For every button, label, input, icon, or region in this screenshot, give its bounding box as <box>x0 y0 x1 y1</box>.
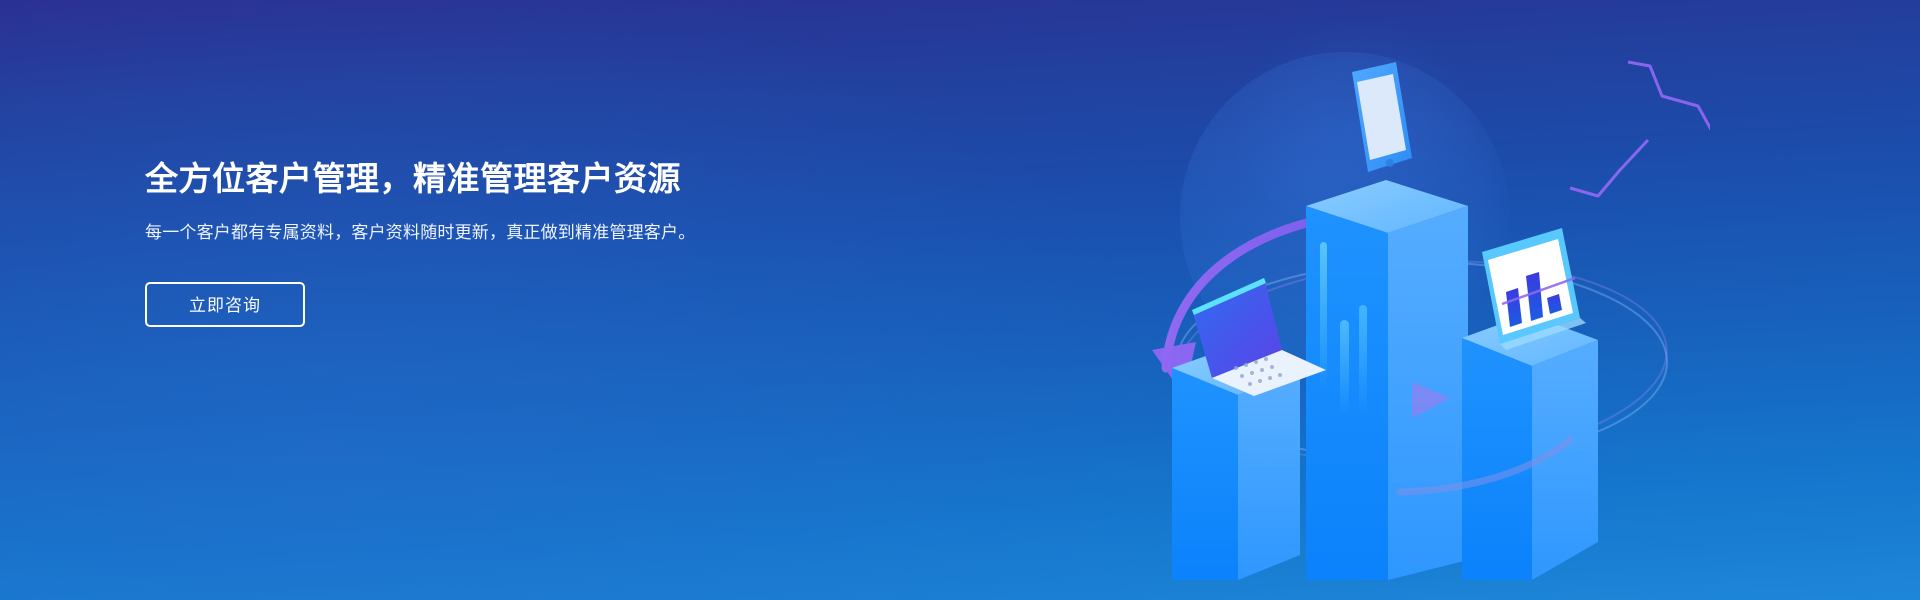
hero-banner: 全方位客户管理，精准管理客户资源 每一个客户都有专属资料，客户资料随时更新，真正… <box>0 0 1920 600</box>
tablet-icon <box>1352 62 1412 172</box>
pedestal-right <box>1462 314 1598 580</box>
hero-copy: 全方位客户管理，精准管理客户资源 每一个客户都有专属资料，客户资料随时更新，真正… <box>145 158 805 327</box>
hero-subtitle: 每一个客户都有专属资料，客户资料随时更新，真正做到精准管理客户。 <box>145 220 740 247</box>
pedestal-center <box>1306 172 1480 580</box>
consult-now-button[interactable]: 立即咨询 <box>145 282 305 327</box>
hero-illustration <box>1150 20 1710 580</box>
trend-line-icon <box>1570 62 1710 196</box>
page-title: 全方位客户管理，精准管理客户资源 <box>145 158 805 199</box>
